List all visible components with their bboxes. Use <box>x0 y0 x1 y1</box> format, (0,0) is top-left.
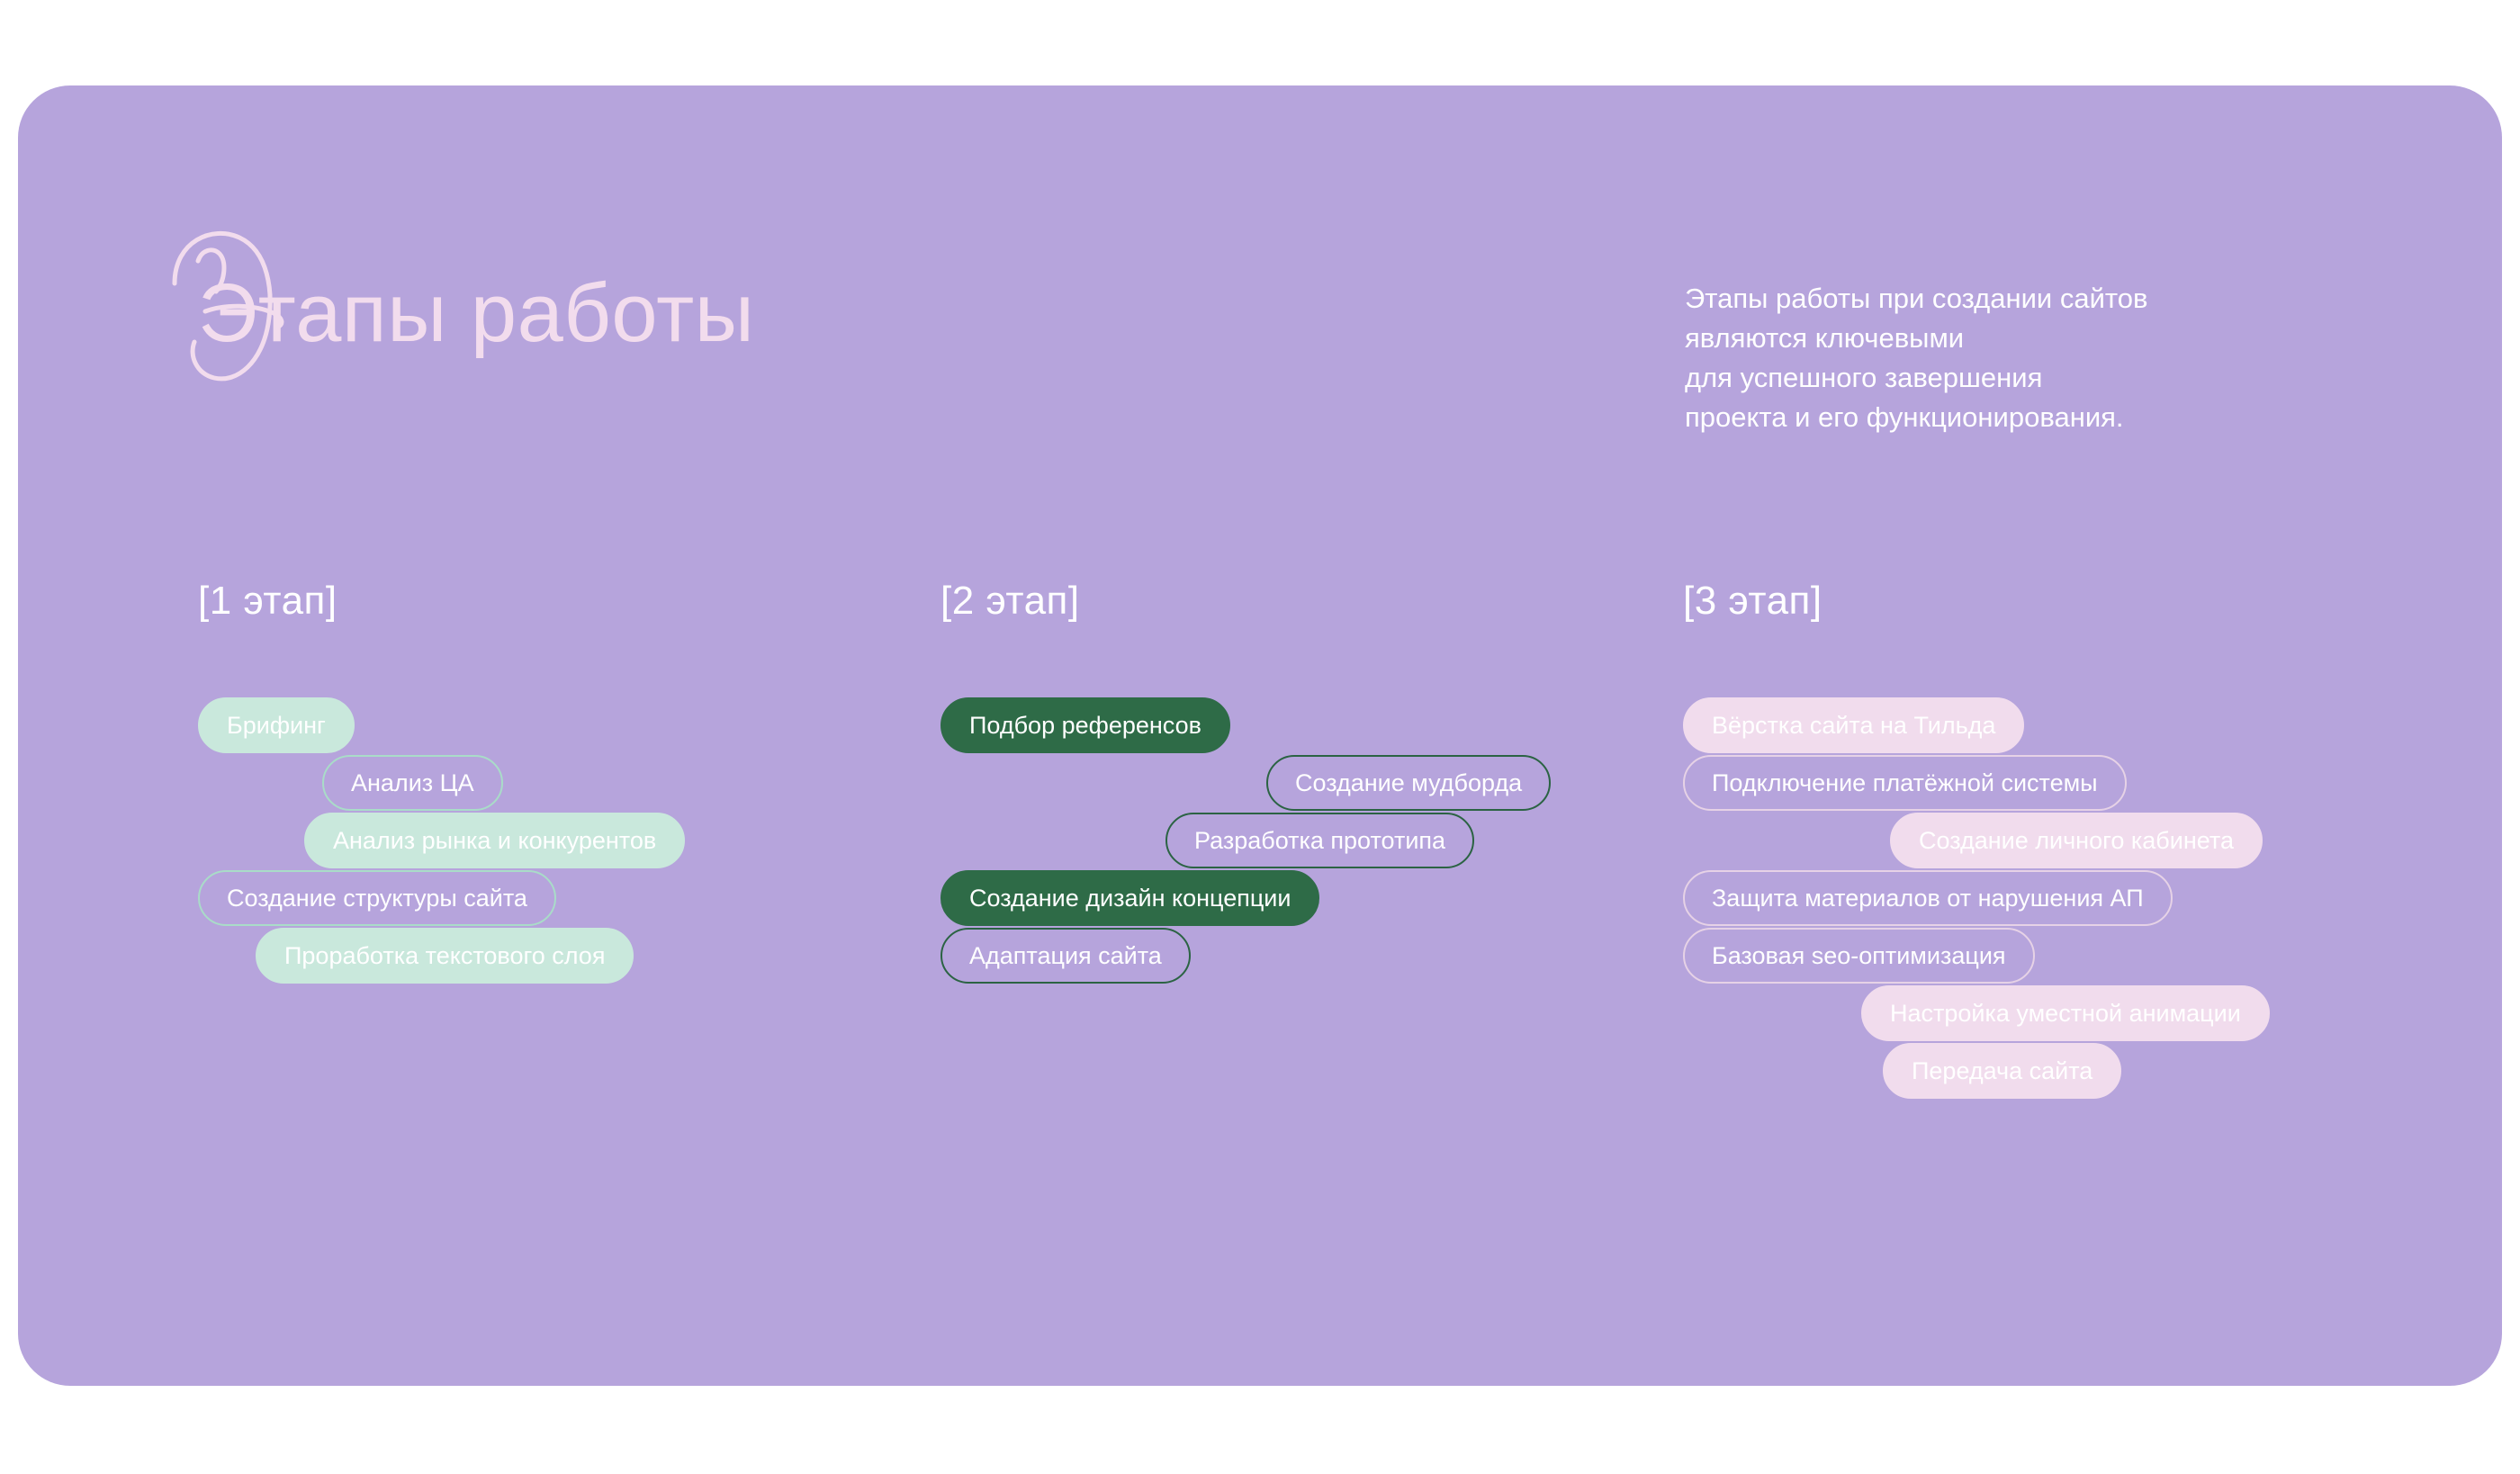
stage-pill[interactable]: Настройка уместной анимации <box>1861 985 2270 1041</box>
pill-row: Анализ ЦА <box>198 755 918 811</box>
stage-pill[interactable]: Анализ рынка и конкурентов <box>304 813 685 868</box>
stage-pill[interactable]: Брифинг <box>198 697 355 753</box>
pill-row: Создание личного кабинета <box>1683 813 2430 868</box>
stage-pill[interactable]: Базовая seo-оптимизация <box>1683 928 2035 984</box>
column-heading-3: [3 этап] <box>1683 579 1822 624</box>
pill-row: Настройка уместной анимации <box>1683 985 2430 1041</box>
pill-row: Защита материалов от нарушения АП <box>1683 870 2430 926</box>
stage-pill[interactable]: Создание мудборда <box>1266 755 1551 811</box>
pill-row: Создание дизайн концепции <box>940 870 1660 926</box>
slide-stage: Этапы работы Этапы работы при создании с… <box>0 0 2520 1474</box>
page-title-group: Этапы работы <box>198 259 754 367</box>
stage-pill[interactable]: Подключение платёжной системы <box>1683 755 2127 811</box>
pill-row: Подбор референсов <box>940 697 1660 753</box>
pill-list-1: БрифингАнализ ЦААнализ рынка и конкурент… <box>198 697 918 985</box>
column-heading-1: [1 этап] <box>198 579 337 624</box>
pill-row: Подключение платёжной системы <box>1683 755 2430 811</box>
intro-line: проекта и его функционирования. <box>1685 398 2423 437</box>
pill-row: Анализ рынка и конкурентов <box>198 813 918 868</box>
intro-paragraph: Этапы работы при создании сайтов являютс… <box>1685 279 2423 437</box>
pill-row: Разработка прототипа <box>940 813 1660 868</box>
stage-pill[interactable]: Передача сайта <box>1883 1043 2121 1099</box>
stage-pill[interactable]: Подбор референсов <box>940 697 1230 753</box>
pill-row: Вёрстка сайта на Тильда <box>1683 697 2430 753</box>
pill-row: Создание структуры сайта <box>198 870 918 926</box>
pill-row: Адаптация сайта <box>940 928 1660 984</box>
intro-line: для успешного завершения <box>1685 358 2423 398</box>
stage-pill[interactable]: Защита материалов от нарушения АП <box>1683 870 2173 926</box>
slide-card: Этапы работы Этапы работы при создании с… <box>18 85 2502 1386</box>
stage-pill[interactable]: Анализ ЦА <box>322 755 503 811</box>
pill-row: Создание мудборда <box>940 755 1660 811</box>
pill-list-2: Подбор референсовСоздание мудбордаРазраб… <box>940 697 1660 985</box>
intro-line: Этапы работы при создании сайтов <box>1685 279 2423 319</box>
stage-pill[interactable]: Адаптация сайта <box>940 928 1191 984</box>
stage-pill[interactable]: Вёрстка сайта на Тильда <box>1683 697 2024 753</box>
pill-row: Брифинг <box>198 697 918 753</box>
stage-pill[interactable]: Проработка текстового слоя <box>256 928 634 984</box>
stage-pill[interactable]: Создание личного кабинета <box>1890 813 2263 868</box>
stage-pill[interactable]: Создание структуры сайта <box>198 870 556 926</box>
stage-pill[interactable]: Создание дизайн концепции <box>940 870 1319 926</box>
pill-row: Базовая seo-оптимизация <box>1683 928 2430 984</box>
column-heading-2: [2 этап] <box>940 579 1080 624</box>
page-title: Этапы работы <box>198 259 754 367</box>
pill-list-3: Вёрстка сайта на ТильдаПодключение платё… <box>1683 697 2430 1101</box>
intro-line: являются ключевыми <box>1685 319 2423 358</box>
stage-pill[interactable]: Разработка прототипа <box>1165 813 1474 868</box>
pill-row: Проработка текстового слоя <box>198 928 918 984</box>
pill-row: Передача сайта <box>1683 1043 2430 1099</box>
